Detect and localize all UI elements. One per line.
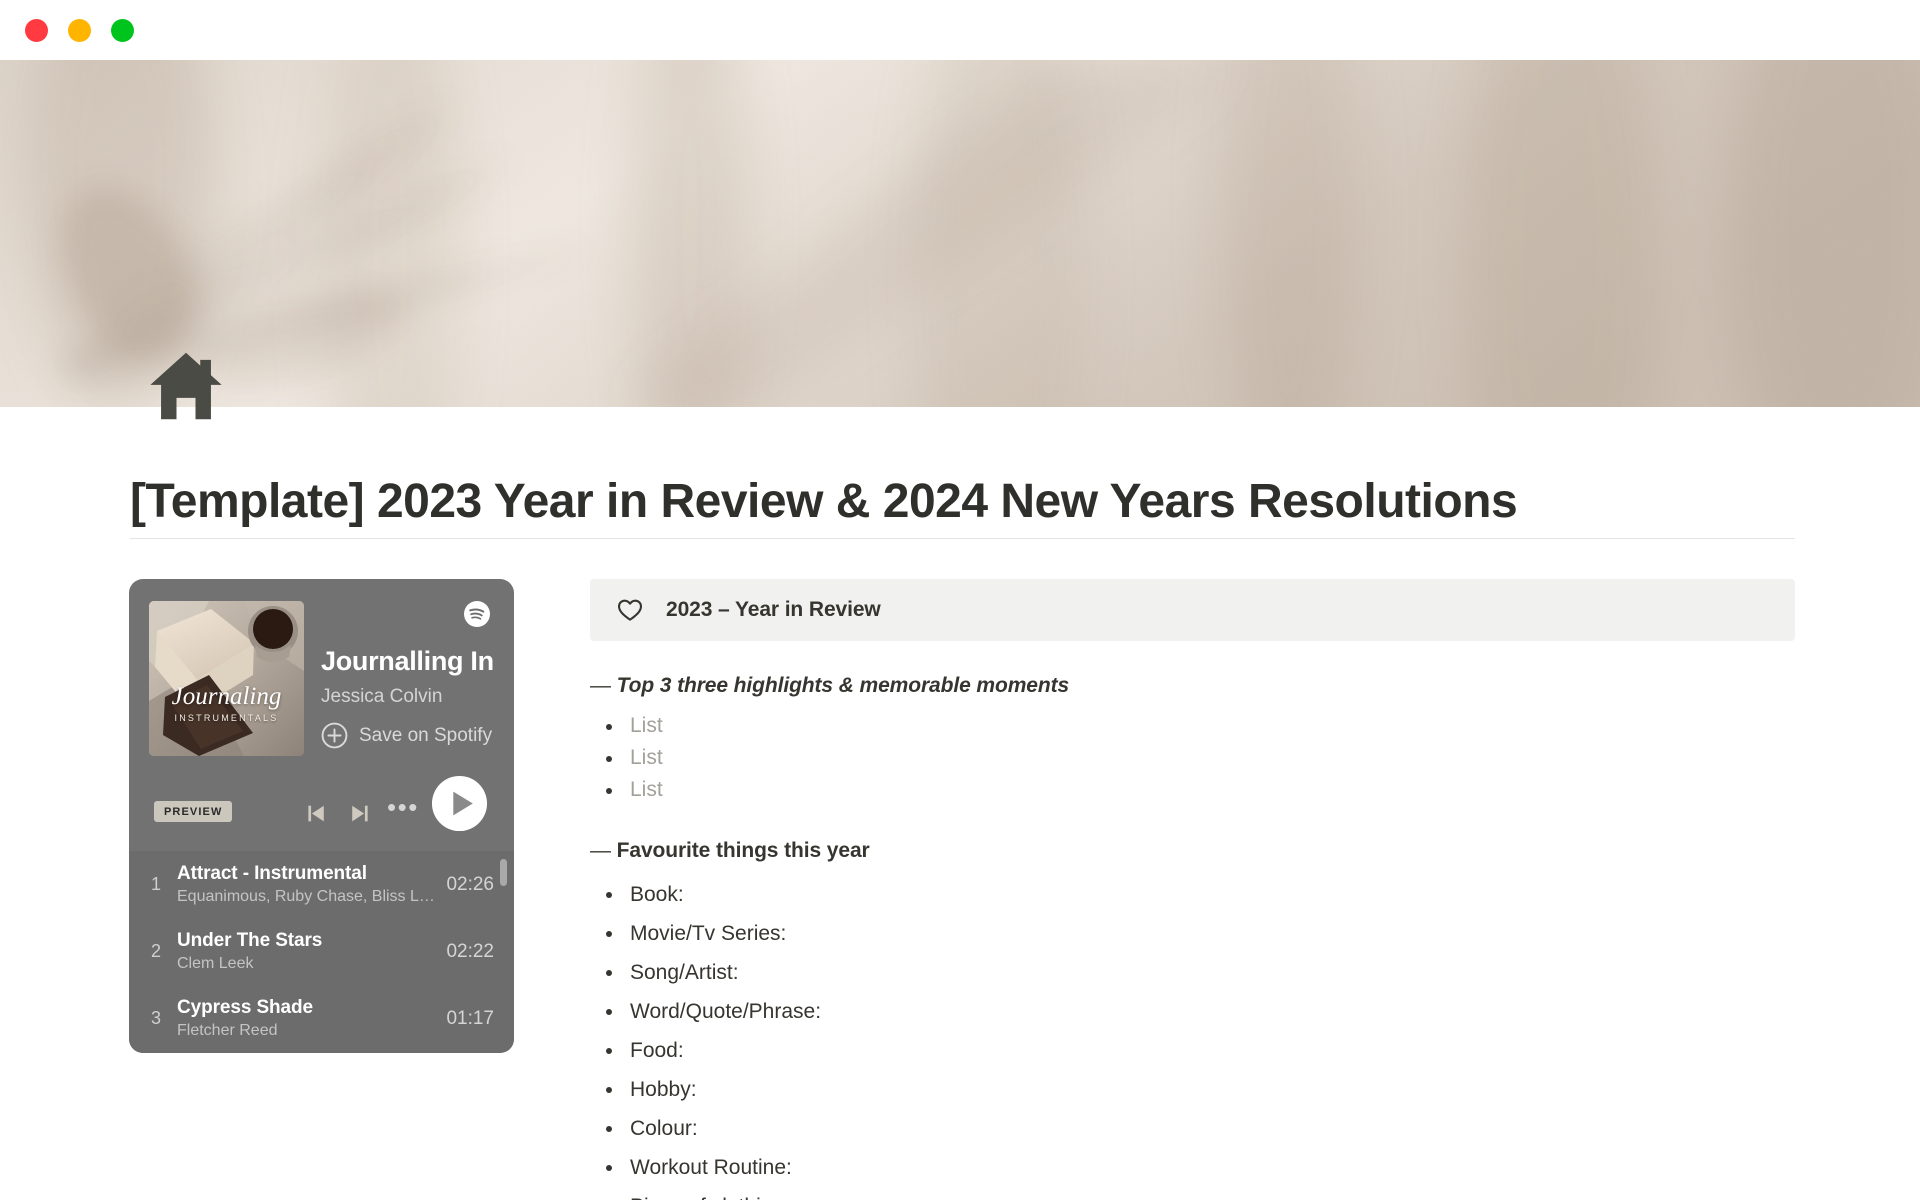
cover-title: Journaling: [149, 683, 304, 711]
list-item[interactable]: Song/Artist:: [590, 953, 1795, 992]
track-title: Attract - Instrumental: [177, 863, 436, 885]
track-duration: 02:26: [446, 874, 494, 896]
save-on-spotify-label: Save on Spotify: [359, 725, 492, 747]
house-icon[interactable]: [148, 348, 224, 424]
track-number: 1: [151, 874, 177, 895]
track-title: Under The Stars: [177, 930, 436, 952]
traffic-lights: [25, 19, 134, 42]
minimize-button[interactable]: [68, 19, 91, 42]
track-row[interactable]: 2 Under The Stars Clem Leek 02:22: [129, 918, 514, 985]
list-item[interactable]: Book:: [590, 875, 1795, 914]
close-button[interactable]: [25, 19, 48, 42]
heading-dash: —: [590, 674, 617, 697]
preview-badge: PREVIEW: [154, 801, 232, 822]
maximize-button[interactable]: [111, 19, 134, 42]
next-track-icon[interactable]: [347, 801, 372, 826]
track-row[interactable]: 1 Attract - Instrumental Equanimous, Rub…: [129, 851, 514, 918]
spotify-icon[interactable]: [464, 601, 490, 627]
list-item[interactable]: List: [590, 774, 1795, 806]
spotify-header: Journaling INSTRUMENTALS Journalling In …: [129, 579, 514, 851]
track-artist: Clem Leek: [177, 955, 436, 973]
list-item[interactable]: List: [590, 742, 1795, 774]
list-item[interactable]: Movie/Tv Series:: [590, 914, 1795, 953]
list-item[interactable]: Colour:: [590, 1109, 1795, 1148]
track-duration: 02:22: [446, 941, 494, 963]
highlights-list: List List List: [590, 710, 1795, 806]
list-item[interactable]: Food:: [590, 1031, 1795, 1070]
list-item[interactable]: Workout Routine:: [590, 1148, 1795, 1187]
album-artwork: [149, 601, 304, 756]
cover-subtitle: INSTRUMENTALS: [149, 713, 304, 723]
banner-image: [0, 60, 1920, 407]
list-item[interactable]: Word/Quote/Phrase:: [590, 992, 1795, 1031]
track-artist: Equanimous, Ruby Chase, Bliss L…: [177, 888, 436, 906]
now-playing-artist[interactable]: Jessica Colvin: [321, 686, 442, 708]
document-body: [Template] 2023 Year in Review & 2024 Ne…: [0, 407, 1920, 1200]
track-info: Under The Stars Clem Leek: [177, 930, 446, 973]
callout-text: 2023 – Year in Review: [666, 598, 881, 622]
previous-track-icon[interactable]: [304, 801, 329, 826]
save-on-spotify-button[interactable]: Save on Spotify: [321, 722, 492, 749]
track-info: Cypress Shade Fletcher Reed: [177, 997, 446, 1040]
track-number: 2: [151, 941, 177, 962]
more-options-icon[interactable]: •••: [387, 797, 419, 817]
track-duration: 01:17: [446, 1008, 494, 1030]
play-button[interactable]: [431, 775, 488, 832]
spotify-embed[interactable]: Journaling INSTRUMENTALS Journalling In …: [129, 579, 514, 1053]
list-item[interactable]: List: [590, 710, 1795, 742]
track-info: Attract - Instrumental Equanimous, Ruby …: [177, 863, 446, 906]
heading-text: Top 3 three highlights & memorable momen…: [617, 674, 1069, 697]
page-title[interactable]: [Template] 2023 Year in Review & 2024 Ne…: [130, 474, 1517, 529]
heading-dash: —: [590, 839, 617, 862]
window-title-bar: [0, 0, 1920, 60]
page-cover-banner[interactable]: [0, 60, 1920, 407]
content-column: 2023 – Year in Review — Top 3 three high…: [590, 579, 1795, 1200]
list-item[interactable]: Piece of clothing:: [590, 1187, 1795, 1200]
plus-circle-icon: [321, 722, 348, 749]
list-item[interactable]: Hobby:: [590, 1070, 1795, 1109]
title-divider: [130, 538, 1795, 539]
track-artist: Fletcher Reed: [177, 1022, 436, 1040]
track-row[interactable]: 3 Cypress Shade Fletcher Reed 01:17: [129, 985, 514, 1052]
heart-icon: [616, 596, 644, 624]
heading-text: Favourite things this year: [617, 839, 870, 862]
track-title: Cypress Shade: [177, 997, 436, 1019]
now-playing-title[interactable]: Journalling In: [321, 646, 514, 677]
section-heading-highlights[interactable]: — Top 3 three highlights & memorable mom…: [590, 674, 1795, 698]
album-cover: Journaling INSTRUMENTALS: [149, 601, 304, 756]
spotify-tracklist[interactable]: 1 Attract - Instrumental Equanimous, Rub…: [129, 851, 514, 1053]
callout-block[interactable]: 2023 – Year in Review: [590, 579, 1795, 641]
section-heading-favourites[interactable]: — Favourite things this year: [590, 839, 1795, 863]
favourites-list: Book: Movie/Tv Series: Song/Artist: Word…: [590, 875, 1795, 1200]
track-number: 3: [151, 1008, 177, 1029]
